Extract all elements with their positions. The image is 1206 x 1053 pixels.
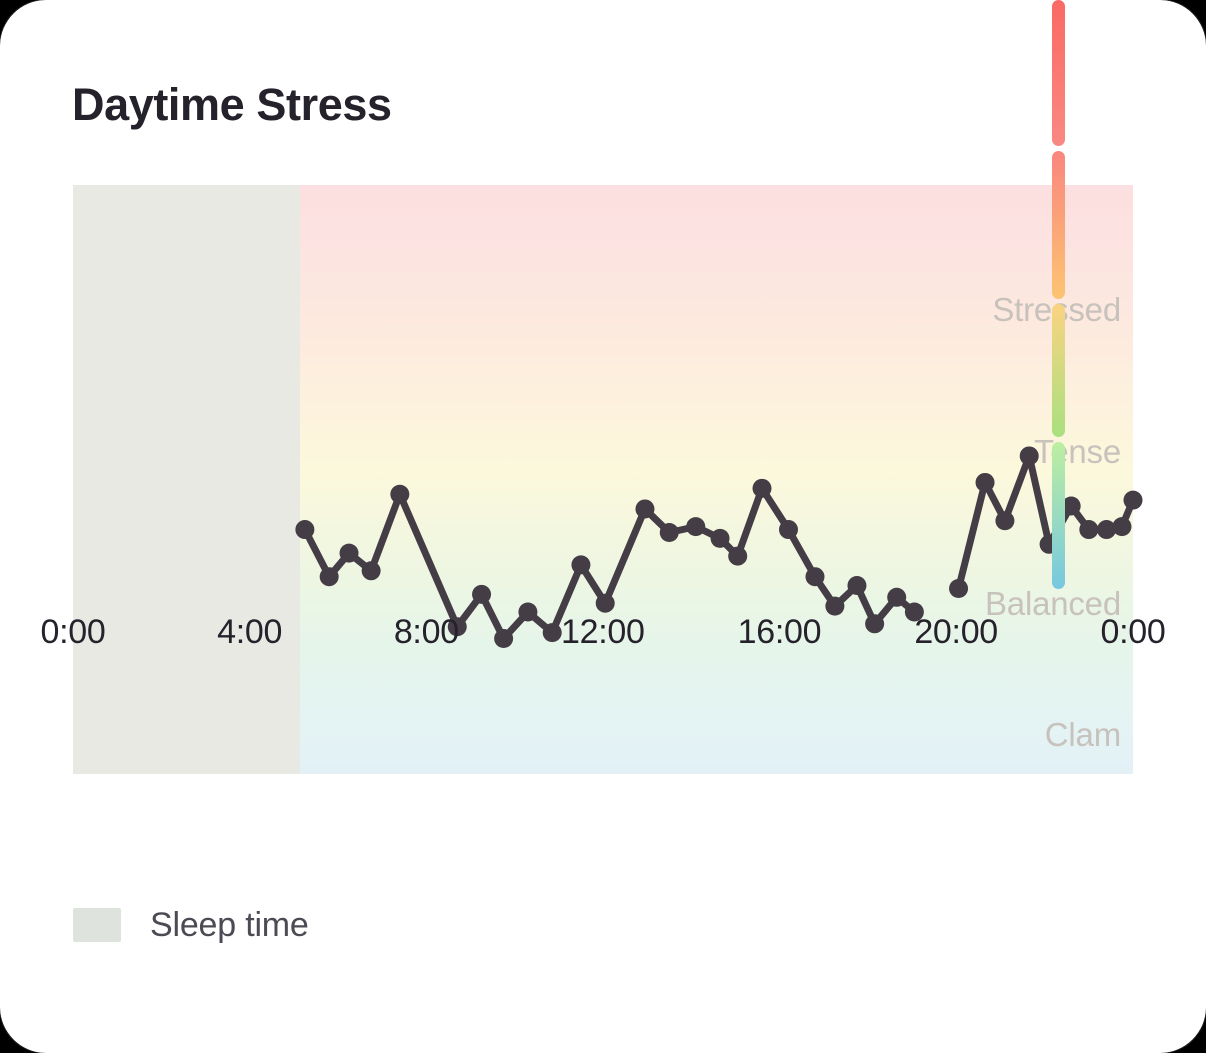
data-point[interactable]: [571, 555, 590, 574]
x-tick-0-00: 0:00: [41, 615, 106, 649]
corner-mask-top-left: [0, 0, 46, 46]
data-point[interactable]: [1112, 517, 1131, 536]
data-point[interactable]: [976, 473, 995, 492]
data-point[interactable]: [711, 529, 730, 548]
x-tick-8-00: 8:00: [394, 615, 459, 649]
data-point[interactable]: [472, 585, 491, 604]
data-point[interactable]: [635, 499, 654, 518]
clam-segment: [1052, 442, 1065, 589]
data-point[interactable]: [686, 517, 705, 536]
sleep-time-swatch: [73, 908, 121, 942]
data-point[interactable]: [320, 567, 339, 586]
data-point[interactable]: [660, 523, 679, 542]
data-point[interactable]: [753, 479, 772, 498]
data-point[interactable]: [1079, 520, 1098, 539]
x-tick-4-00: 4:00: [217, 615, 282, 649]
stress-scale-bar: [1052, 0, 1065, 589]
data-point[interactable]: [995, 511, 1014, 530]
corner-mask-bottom-right: [1160, 1007, 1206, 1053]
corner-mask-top-right: [1160, 0, 1206, 46]
data-point[interactable]: [825, 597, 844, 616]
x-axis: 0:004:008:0012:0016:0020:000:00: [0, 615, 1133, 665]
data-point[interactable]: [847, 576, 866, 595]
data-point[interactable]: [728, 547, 747, 566]
sleep-time-label: Sleep time: [150, 908, 309, 942]
data-point[interactable]: [779, 520, 798, 539]
data-point[interactable]: [362, 561, 381, 580]
stress-card: Daytime Stress StressedTenseBalancedClam…: [0, 0, 1206, 1053]
x-tick-0-00: 0:00: [1101, 615, 1166, 649]
zone-label-clam: Clam: [1045, 718, 1121, 751]
data-point[interactable]: [949, 579, 968, 598]
chart-legend: Sleep time: [73, 908, 309, 942]
tense-segment: [1052, 151, 1065, 299]
zone-label-tense: Tense: [1034, 435, 1121, 468]
data-point[interactable]: [390, 485, 409, 504]
stressed-segment: [1052, 0, 1065, 146]
x-tick-16-00: 16:00: [738, 615, 822, 649]
corner-mask-bottom-left: [0, 1007, 46, 1053]
x-tick-20-00: 20:00: [914, 615, 998, 649]
stress-chart-plot-area[interactable]: StressedTenseBalancedClam: [73, 185, 1133, 774]
balanced-segment: [1052, 304, 1065, 437]
data-point[interactable]: [887, 588, 906, 607]
data-point[interactable]: [340, 544, 359, 563]
data-point[interactable]: [295, 520, 314, 539]
data-point[interactable]: [596, 594, 615, 613]
page-title: Daytime Stress: [72, 82, 392, 127]
stress-line-chart[interactable]: [73, 185, 1133, 774]
data-point[interactable]: [806, 567, 825, 586]
x-tick-12-00: 12:00: [561, 615, 645, 649]
data-point[interactable]: [1124, 491, 1143, 510]
